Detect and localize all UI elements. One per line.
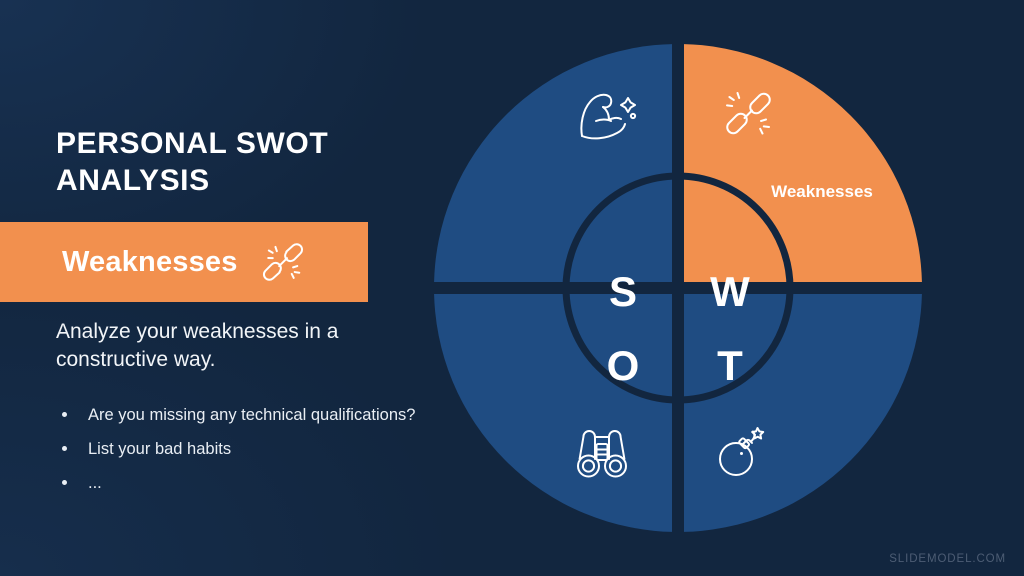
list-item: Are you missing any technical qualificat… (56, 405, 416, 426)
list-item-text: ... (88, 474, 102, 492)
lede-text: Analyze your weaknesses in a constructiv… (56, 318, 396, 373)
swot-letter-w: W (710, 268, 750, 315)
horizontal-divider (418, 282, 948, 294)
swot-letter-t: T (717, 342, 743, 389)
bullet-list: Are you missing any technical qualificat… (56, 405, 416, 507)
watermark: SLIDEMODEL.COM (889, 553, 1006, 565)
swot-letter-o: O (607, 342, 640, 389)
page-title: PERSONAL SWOT ANALYSIS (56, 126, 386, 199)
bullet-dot (62, 480, 67, 485)
list-item-text: Are you missing any technical qualificat… (88, 406, 415, 424)
swot-diagram: S W O T Weaknesses (418, 22, 948, 562)
broken-chain-icon (260, 239, 306, 285)
slide-canvas: PERSONAL SWOT ANALYSIS Weaknesses Analyz… (0, 0, 1024, 576)
list-item: List your bad habits (56, 439, 416, 460)
list-item-text: List your bad habits (88, 440, 231, 458)
swot-quadrant-label-weaknesses: Weaknesses (771, 182, 873, 201)
section-banner: Weaknesses (0, 222, 368, 302)
list-item: ... (56, 473, 416, 494)
swot-letter-s: S (609, 268, 637, 315)
bullet-dot (62, 412, 67, 417)
section-banner-label: Weaknesses (62, 246, 238, 279)
bullet-dot (62, 446, 67, 451)
